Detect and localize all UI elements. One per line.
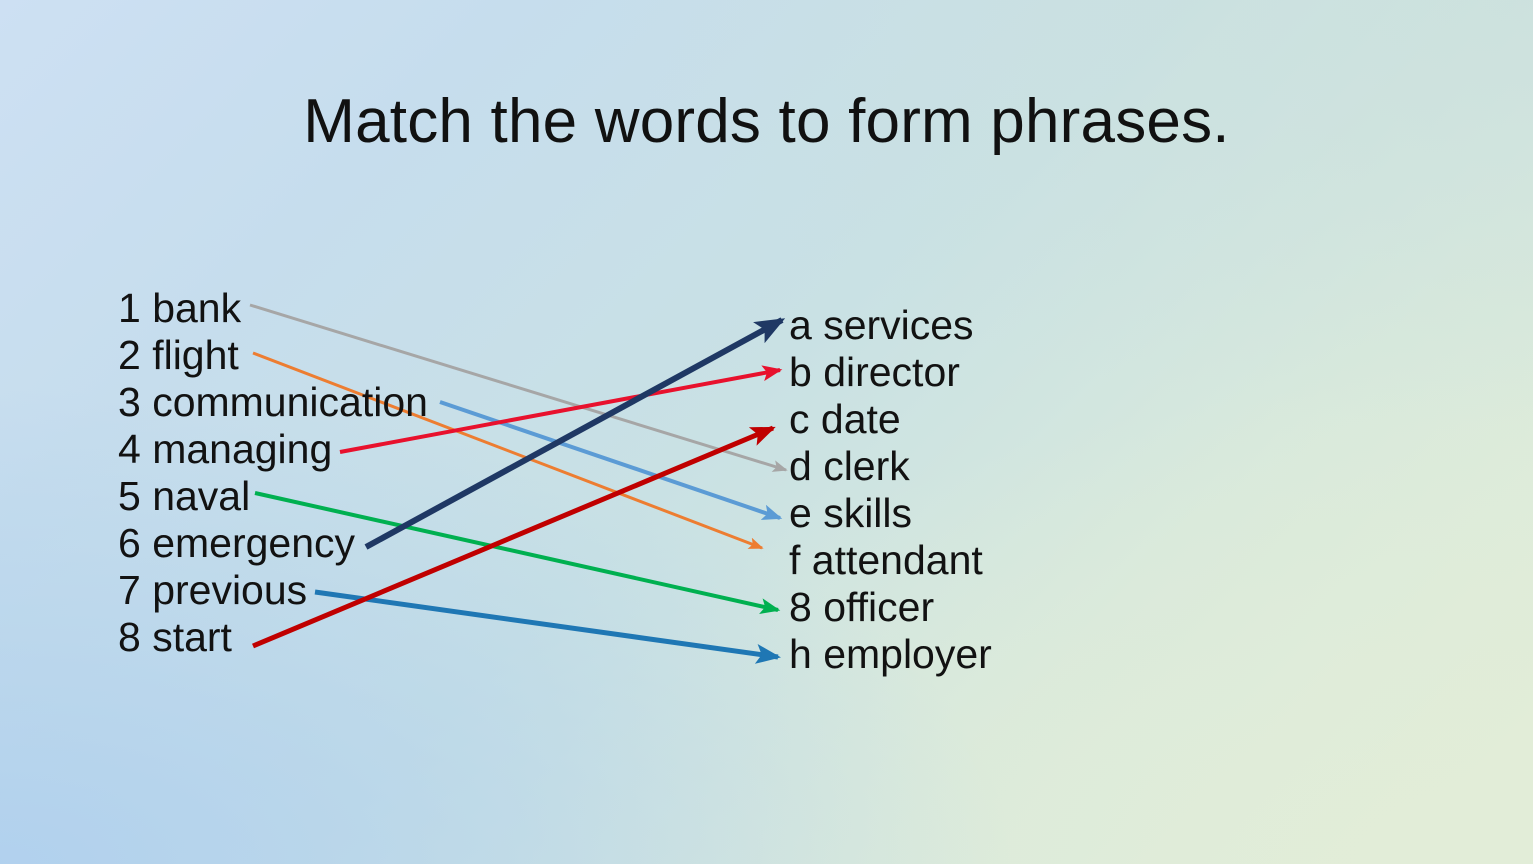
list-item[interactable]: 2 flight: [118, 332, 428, 379]
list-item[interactable]: 8 start: [118, 614, 428, 661]
connector-arrow[interactable]: [440, 402, 780, 518]
page-title: Match the words to form phrases.: [0, 88, 1533, 156]
list-item[interactable]: 7 previous: [118, 567, 428, 614]
list-item[interactable]: 8 officer: [789, 584, 992, 631]
list-item[interactable]: d clerk: [789, 443, 992, 490]
list-item[interactable]: c date: [789, 396, 992, 443]
list-item[interactable]: e skills: [789, 490, 992, 537]
list-item[interactable]: a services: [789, 302, 992, 349]
list-item[interactable]: 4 managing: [118, 426, 428, 473]
list-item[interactable]: 3 communication: [118, 379, 428, 426]
list-item[interactable]: 6 emergency: [118, 520, 428, 567]
list-item[interactable]: b director: [789, 349, 992, 396]
slide-canvas: Match the words to form phrases. 1 bank …: [0, 0, 1533, 864]
connector-arrow[interactable]: [366, 320, 782, 547]
list-item[interactable]: h employer: [789, 631, 992, 678]
list-item[interactable]: f attendant: [789, 537, 992, 584]
left-word-list: 1 bank 2 flight 3 communication 4 managi…: [118, 285, 428, 661]
right-word-list: a services b director c date d clerk e s…: [789, 302, 992, 678]
list-item[interactable]: 5 naval: [118, 473, 428, 520]
list-item[interactable]: 1 bank: [118, 285, 428, 332]
